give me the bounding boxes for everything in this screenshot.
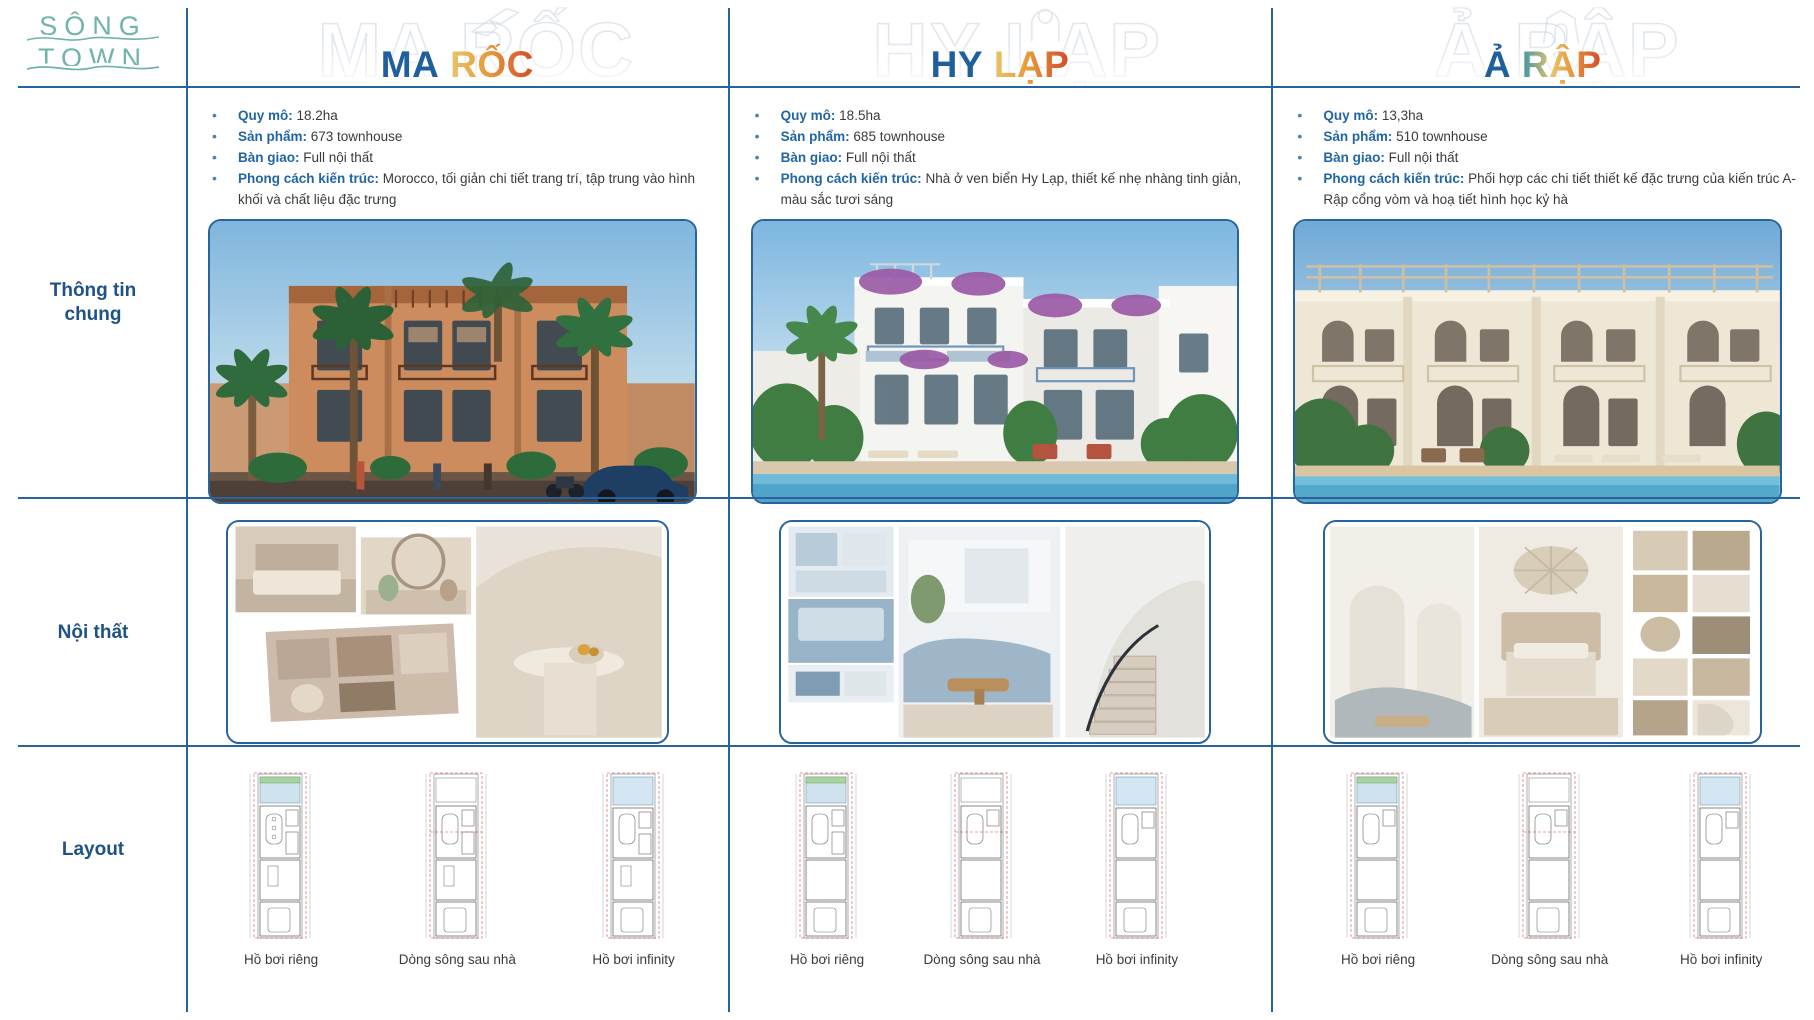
title-arap-part1: Ả: [1484, 44, 1511, 85]
title-maroc-part1: MA: [381, 44, 440, 85]
info-cell-hylap: Quy mô: 18.5ha Sản phẩm: 685 townhouse B…: [729, 98, 1272, 508]
title-maroc-part2: RỐC: [450, 44, 534, 85]
row-divider-2: [18, 497, 1800, 499]
list-item: Sản phẩm: 510 townhouse: [1293, 127, 1800, 148]
plan-item: Hồ bơi infinity: [1638, 772, 1804, 967]
row-label-general-line2: chung: [50, 303, 137, 327]
plan-caption: Hồ bơi infinity: [592, 952, 674, 967]
render-photo-arap: [1293, 219, 1782, 504]
floor-plan-drawing: [242, 772, 320, 940]
bullet-list-hylap: Quy mô: 18.5ha Sản phẩm: 685 townhouse B…: [751, 106, 1258, 211]
plan-group-hylap: Hồ bơi riêng: [753, 772, 1212, 1014]
plan-caption: Dòng sông sau nhà: [1491, 952, 1608, 967]
interior-cell-hylap: [729, 508, 1272, 758]
plan-item: Hồ bơi riêng: [196, 772, 366, 967]
plan-caption: Hồ bơi riêng: [244, 952, 318, 967]
plan-caption: Hồ bơi infinity: [1096, 952, 1178, 967]
plan-item: Dòng sông sau nhà: [372, 772, 542, 967]
list-item: Bàn giao: Full nội thất: [1293, 148, 1800, 169]
list-item: Bàn giao: Full nội thất: [751, 148, 1258, 169]
floor-plan-drawing: [595, 772, 673, 940]
bullet-list-maroc: Quy mô: 18.2ha Sản phẩm: 673 townhouse B…: [208, 106, 715, 211]
title-arap-part2: RẬP: [1522, 44, 1602, 85]
render-photo-hylap: [751, 219, 1240, 504]
info-cell-arap: Quy mô: 13,3ha Sản phẩm: 510 townhouse B…: [1271, 98, 1814, 508]
sun-arch-icon: [1022, 2, 1080, 48]
floor-plan-drawing: [1098, 772, 1176, 940]
column-divider-1: [186, 8, 188, 1012]
list-item: Quy mô: 18.5ha: [751, 106, 1258, 127]
column-header-maroc: MA RỐC MA RỐC: [186, 0, 729, 98]
plan-group-arap: Hồ bơi riêng: [1295, 772, 1804, 1014]
layout-grid: SÔNG TOWN MA RỐC MA RỐC: [0, 0, 1814, 1020]
list-item: Phong cách kiến trúc: Morocco, tối giản …: [208, 169, 715, 211]
layout-cell-arap: Hồ bơi riêng: [1271, 758, 1814, 1020]
plan-item: Dòng sông sau nhà: [1467, 772, 1633, 967]
floor-plan-drawing: [1511, 772, 1589, 940]
floor-plan-drawing: [418, 772, 496, 940]
plan-item: Hồ bơi infinity: [548, 772, 718, 967]
column-divider-3: [1271, 8, 1273, 1012]
floor-plan-drawing: [943, 772, 1021, 940]
info-cell-maroc: Quy mô: 18.2ha Sản phẩm: 673 townhouse B…: [186, 98, 729, 508]
list-item: Phong cách kiến trúc: Nhà ở ven biển Hy …: [751, 169, 1258, 211]
plan-group-maroc: Hồ bơi riêng: [196, 772, 719, 1014]
layout-cell-hylap: Hồ bơi riêng: [729, 758, 1272, 1020]
list-item: Quy mô: 18.2ha: [208, 106, 715, 127]
list-item: Phong cách kiến trúc: Phối hợp các chi t…: [1293, 169, 1800, 211]
floor-plan-drawing: [1339, 772, 1417, 940]
title-hylap-part1: HY: [931, 44, 983, 85]
list-item: Bàn giao: Full nội thất: [208, 148, 715, 169]
plan-caption: Dòng sông sau nhà: [923, 952, 1040, 967]
mood-board-hylap: [779, 520, 1212, 744]
row-divider-1: [18, 86, 1800, 88]
brand-logo: SÔNG TOWN: [0, 0, 186, 98]
column-header-hylap: HY LẠP HY LẠP: [729, 0, 1272, 98]
title-hylap-part2: LẠP: [994, 44, 1070, 85]
layout-cell-maroc: Hồ bơi riêng: [186, 758, 729, 1020]
list-item: Quy mô: 13,3ha: [1293, 106, 1800, 127]
interior-cell-maroc: [186, 508, 729, 758]
bullet-list-arap: Quy mô: 13,3ha Sản phẩm: 510 townhouse B…: [1293, 106, 1800, 211]
column-header-arap: Ả RẬP Ả RẬP: [1271, 0, 1814, 98]
plan-item: Dòng sông sau nhà: [908, 772, 1057, 967]
list-item: Sản phẩm: 685 townhouse: [751, 127, 1258, 148]
plan-item: Hồ bơi infinity: [1062, 772, 1211, 967]
mood-board-arap: [1323, 520, 1762, 744]
floor-plan-drawing: [788, 772, 866, 940]
plan-caption: Hồ bơi infinity: [1680, 952, 1762, 967]
brand-line-town: TOWN: [30, 43, 156, 75]
plan-item: Hồ bơi riêng: [1295, 772, 1461, 967]
comparison-sheet: SÔNG TOWN MA RỐC MA RỐC: [0, 0, 1814, 1020]
arch-dome-icon: [1532, 2, 1590, 48]
brand-line-song: SÔNG: [30, 11, 156, 43]
row-label-interior: Nội thất: [0, 508, 186, 758]
plan-caption: Hồ bơi riêng: [1341, 952, 1415, 967]
mood-board-maroc: [226, 520, 669, 744]
row-label-general-line1: Thông tin: [50, 279, 137, 303]
plan-caption: Dòng sông sau nhà: [399, 952, 516, 967]
row-divider-3: [18, 745, 1800, 747]
row-label-general-info: Thông tin chung: [0, 98, 186, 508]
interior-cell-arap: [1271, 508, 1814, 758]
title-hylap: HY LẠP: [931, 44, 1070, 86]
render-photo-maroc: [208, 219, 697, 504]
column-divider-2: [728, 8, 730, 1012]
bird-icon: [468, 2, 526, 48]
plan-item: Hồ bơi riêng: [753, 772, 902, 967]
title-maroc: MA RỐC: [381, 44, 534, 86]
plan-caption: Hồ bơi riêng: [790, 952, 864, 967]
title-arap: Ả RẬP: [1484, 44, 1602, 86]
floor-plan-drawing: [1682, 772, 1760, 940]
row-label-layout: Layout: [0, 758, 186, 1020]
list-item: Sản phẩm: 673 townhouse: [208, 127, 715, 148]
